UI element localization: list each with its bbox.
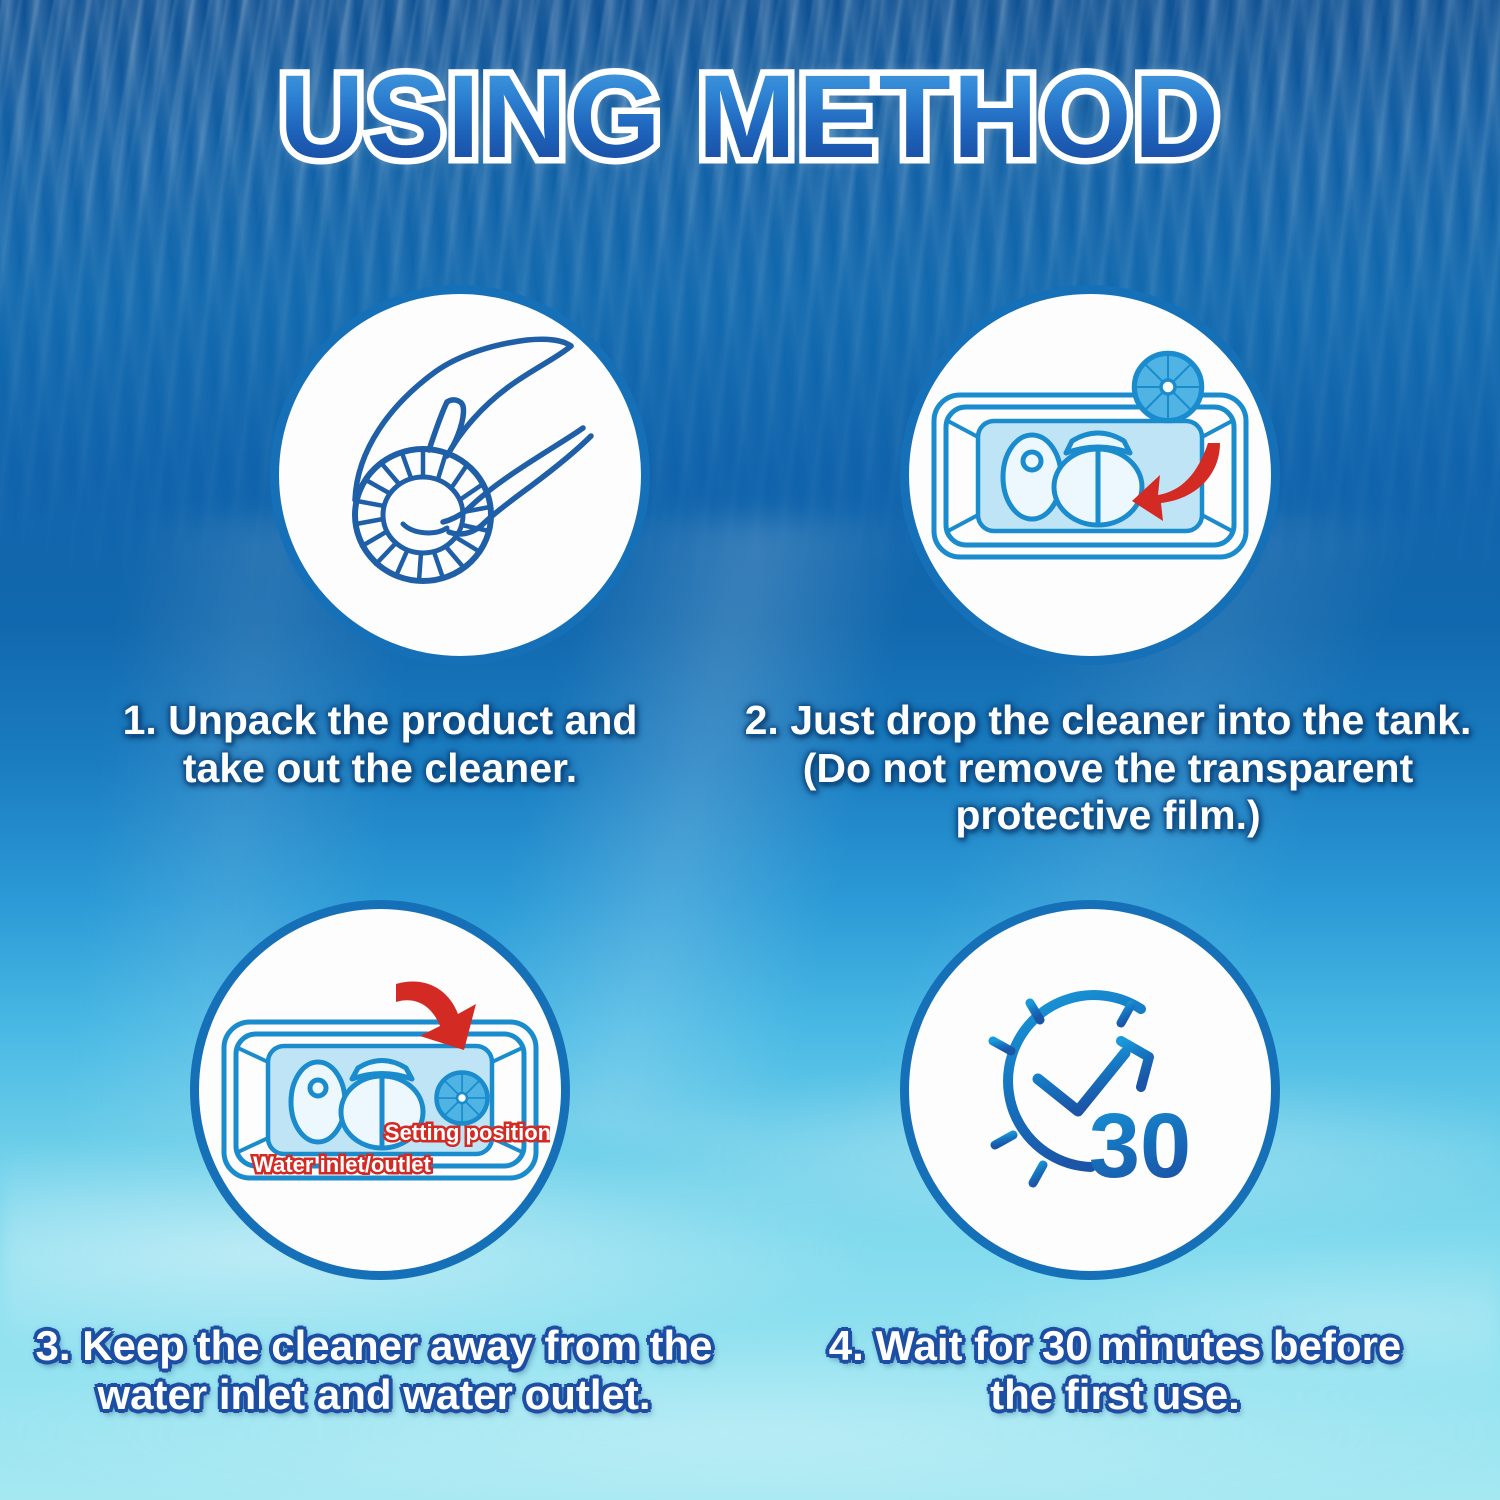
step-2-caption: 2. Just drop the cleaner into the tank. … bbox=[740, 697, 1500, 840]
step-1-circle bbox=[270, 285, 650, 665]
step-2-circle-wrap bbox=[900, 285, 1500, 665]
clock-30-minutes-icon: 30 bbox=[945, 945, 1235, 1235]
step-2-circle bbox=[900, 285, 1280, 665]
step-4-circle-wrap: 30 bbox=[900, 900, 1500, 1280]
setting-position-label-text: Setting position bbox=[385, 1120, 550, 1145]
step-4: 30 4. Wait for 30 minutes before the fir… bbox=[740, 900, 1500, 1419]
step-1-circle-wrap bbox=[270, 285, 650, 665]
step-4-caption-line-2: the first use. bbox=[740, 1371, 1490, 1420]
cleaner-disc-shape bbox=[355, 449, 491, 581]
step-1-caption-line-1: 1. Unpack the product and bbox=[20, 697, 740, 745]
step-2-caption-line-2: (Do not remove the transparent bbox=[740, 745, 1476, 793]
water-inlet-outlet-label: Water inlet/outlet bbox=[253, 1152, 431, 1177]
step-1: 1. Unpack the product and take out the c… bbox=[0, 285, 740, 792]
step-4-icon-holder: 30 bbox=[740, 900, 1500, 1280]
water-inlet-outlet-label-text: Water inlet/outlet bbox=[253, 1152, 431, 1177]
step-4-caption: 4. Wait for 30 minutes before the first … bbox=[740, 1322, 1500, 1419]
hand-holding-cleaner-disc-icon bbox=[295, 310, 625, 640]
step-2-icon-holder bbox=[740, 285, 1500, 665]
step-3-icon-holder: Setting position Water inlet/outlet bbox=[0, 900, 740, 1280]
toilet-tank-setting-position-icon: Setting position Water inlet/outlet bbox=[210, 940, 550, 1240]
toilet-tank-drop-cleaner-icon bbox=[920, 325, 1260, 625]
step-2-caption-line-3: protective film.) bbox=[740, 792, 1476, 840]
step-2-caption-line-1: 2. Just drop the cleaner into the tank. bbox=[740, 697, 1476, 745]
clock-value-text: 30 bbox=[1089, 1095, 1191, 1197]
step-1-icon-holder bbox=[0, 285, 740, 665]
page-title: USING METHOD USING METHOD bbox=[0, 58, 1500, 176]
setting-position-label: Setting position bbox=[385, 1120, 550, 1145]
step-3-circle: Setting position Water inlet/outlet bbox=[190, 900, 570, 1280]
step-4-circle: 30 bbox=[900, 900, 1280, 1280]
page-title-text: USING METHOD bbox=[279, 58, 1221, 176]
red-curved-arrow bbox=[396, 982, 476, 1050]
step-3: Setting position Water inlet/outlet 3. K… bbox=[0, 900, 740, 1419]
step-2: 2. Just drop the cleaner into the tank. … bbox=[740, 285, 1500, 840]
step-3-caption-line-2: water inlet and water outlet. bbox=[8, 1371, 740, 1420]
step-1-caption: 1. Unpack the product and take out the c… bbox=[0, 697, 740, 792]
step-3-caption: 3. Keep the cleaner away from the water … bbox=[0, 1322, 740, 1419]
step-1-caption-line-2: take out the cleaner. bbox=[20, 745, 740, 793]
step-3-circle-wrap: Setting position Water inlet/outlet bbox=[190, 900, 740, 1280]
step-3-caption-line-1: 3. Keep the cleaner away from the bbox=[8, 1322, 740, 1371]
cleaner-iris-disc bbox=[436, 1072, 488, 1124]
cleaner-iris-disc bbox=[1134, 353, 1202, 421]
step-4-caption-line-1: 4. Wait for 30 minutes before bbox=[740, 1322, 1490, 1371]
